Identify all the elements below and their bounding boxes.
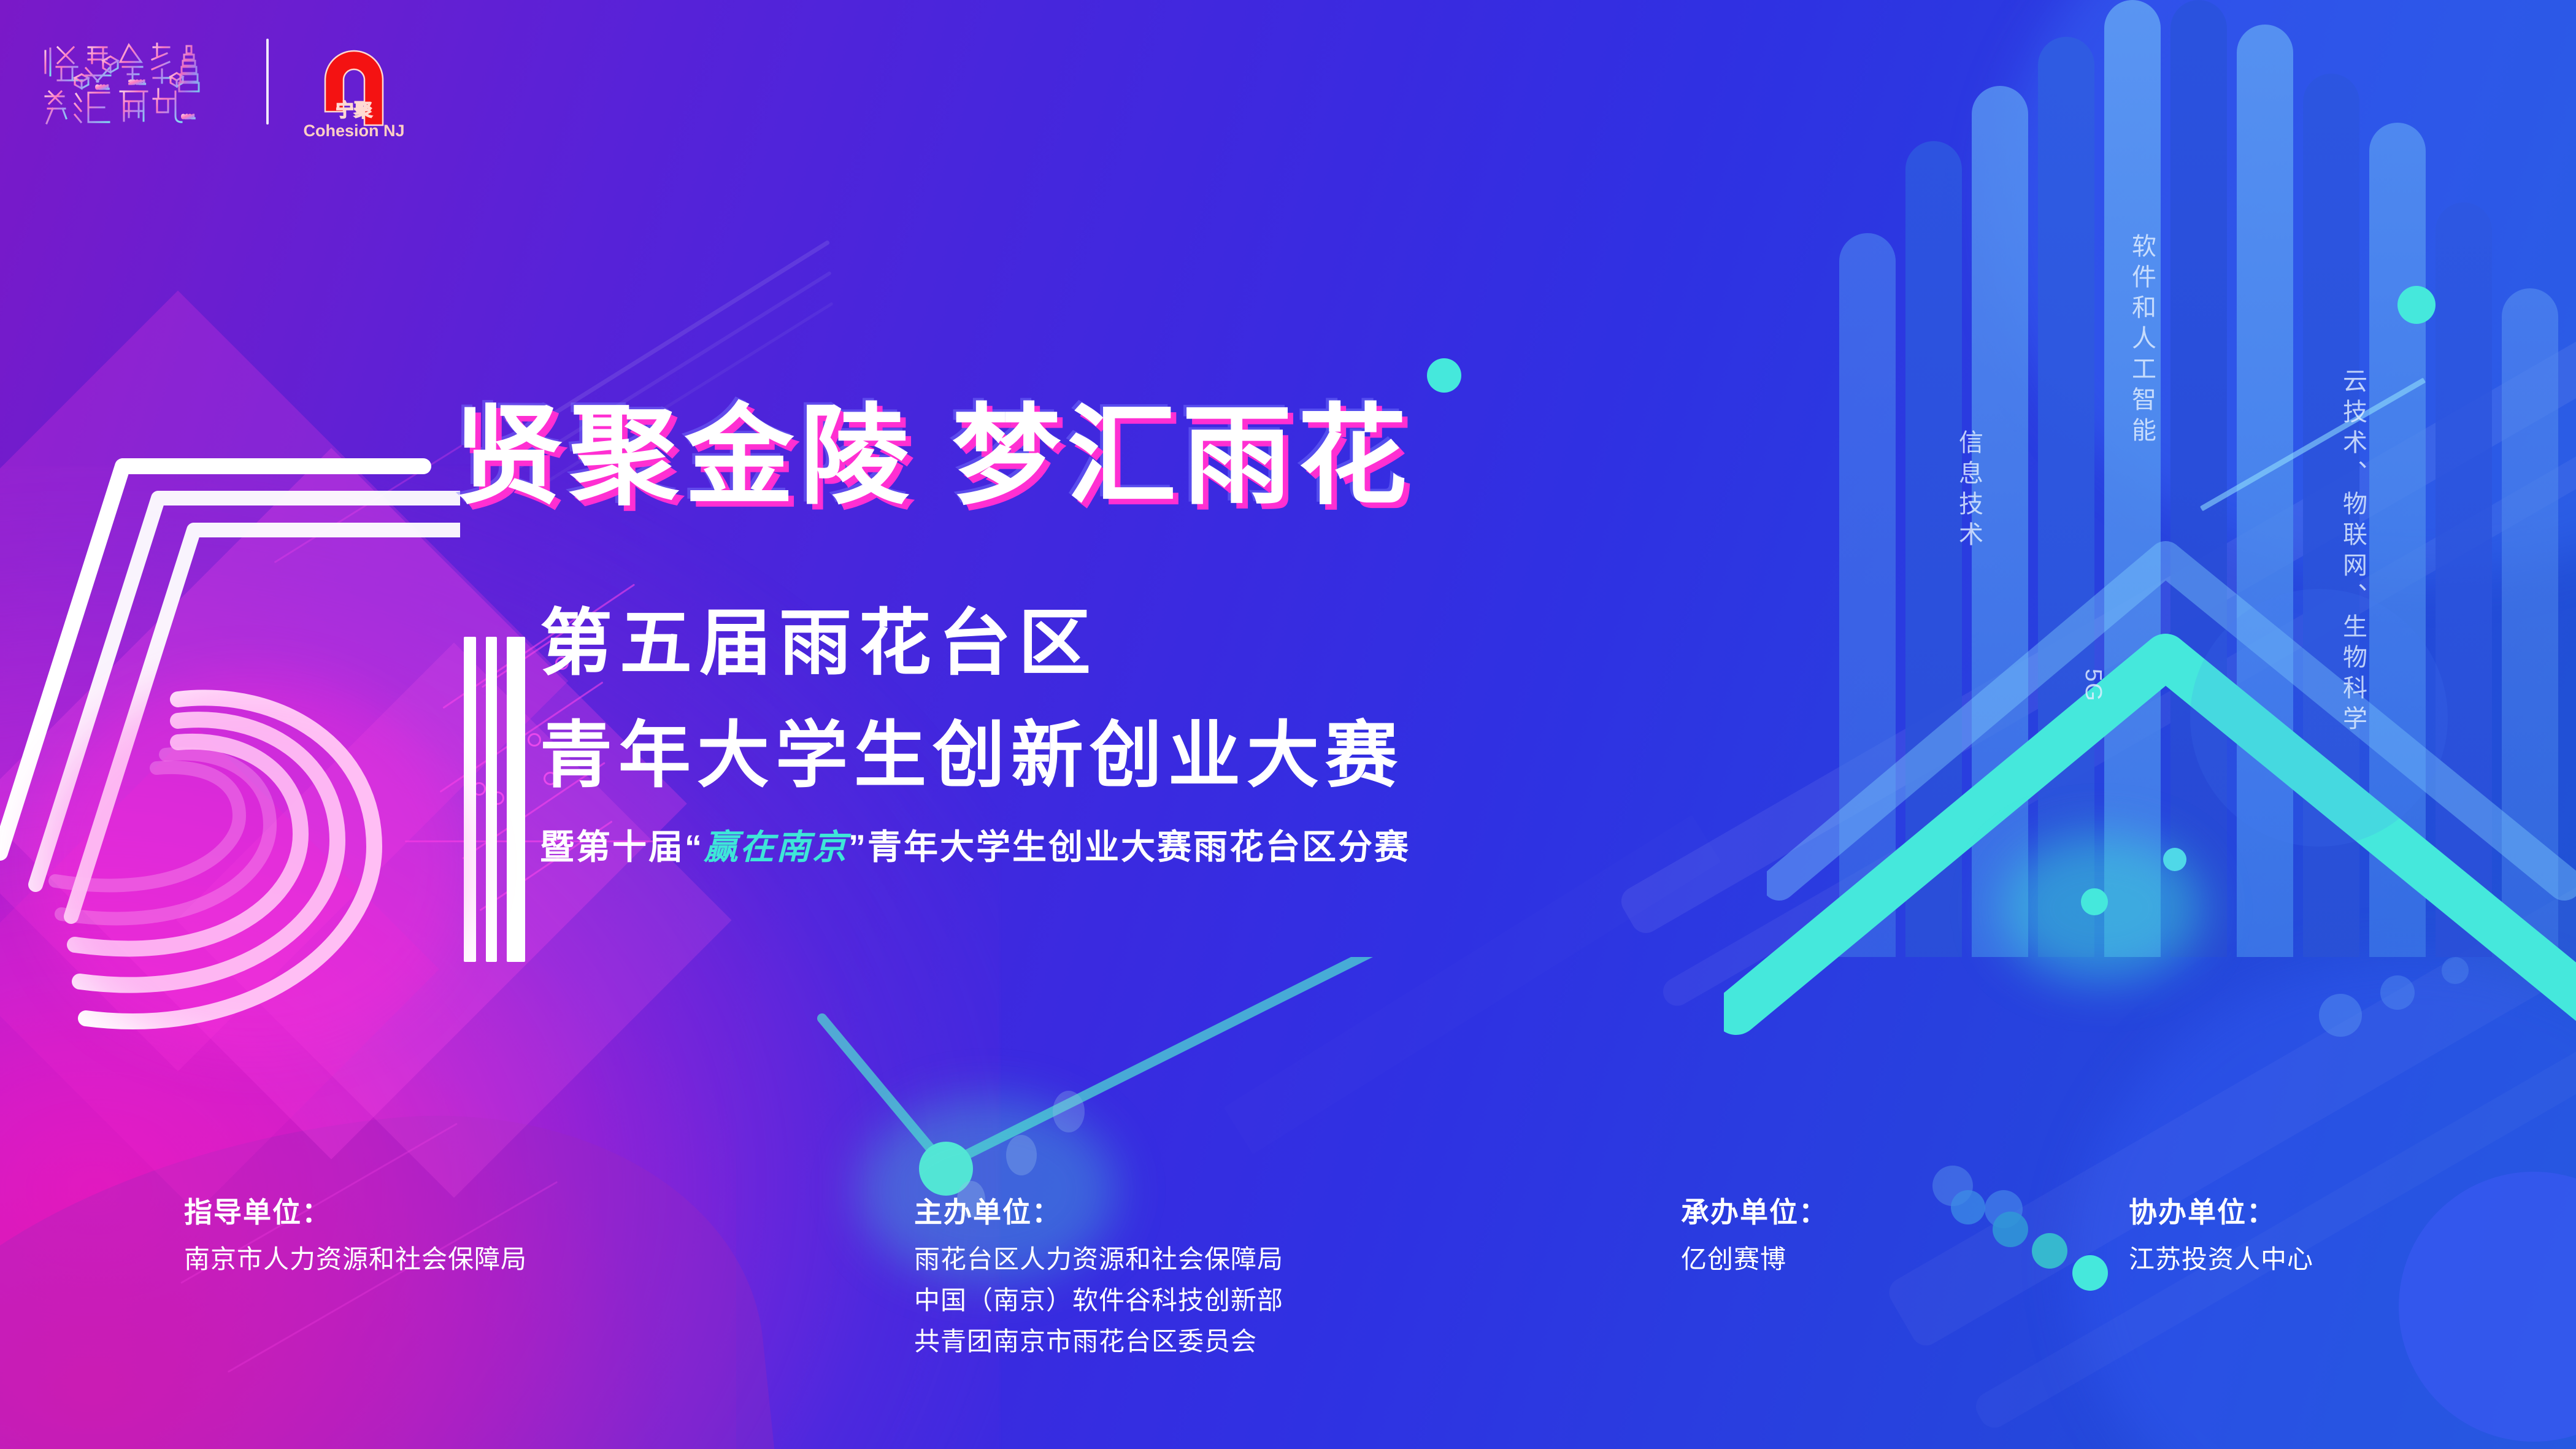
headline-block: 贤聚金陵 梦汇雨花 <box>454 399 1926 515</box>
organizer-line: 江苏投资人中心 <box>2129 1239 2313 1279</box>
event-logo-art: 0101 0101 10011 <box>37 33 239 131</box>
tech-bar-7 <box>2237 25 2293 957</box>
connector-line-topright <box>2200 378 2426 512</box>
accent-bar-1 <box>464 637 476 962</box>
circuit-node-2 <box>528 733 541 747</box>
tech-bar-11 <box>2502 288 2558 957</box>
dot-chain-3 <box>1053 1091 1085 1132</box>
cyan-dot-top <box>1427 358 1461 393</box>
tech-bar-9 <box>2369 123 2426 957</box>
theme-label-info-tech: 信息技术 <box>1951 429 1986 552</box>
subtitle-line-2: 青年大学生创新创业大赛 <box>540 713 1410 799</box>
cyan-glow-mid <box>2000 834 2202 982</box>
chevron-arrow-inner <box>1724 632 2576 1061</box>
circuit-line-7 <box>274 445 463 563</box>
diagonal-band-1 <box>1616 190 2576 938</box>
tech-bar-5 <box>2104 0 2161 957</box>
tech-bar-6 <box>2170 0 2227 957</box>
theme-label-software-ai: 软件和人工智能 <box>2124 233 2159 448</box>
bg-dot-c <box>2442 957 2469 984</box>
logo-en-text: Cohesion NJ <box>303 121 404 140</box>
subtitle-suffix: 青年大学生创业大赛雨花台区分赛 <box>867 828 1410 866</box>
logo-lockup: 0101 0101 10011 宁聚 Cohesion NJ <box>37 23 412 140</box>
bg-circle-mid <box>2190 589 2448 847</box>
subtitle-block: 第五届雨花台区 青年大学生创新创业大赛 暨第十届“赢在南京”青年大学生创业大赛雨… <box>540 601 1410 869</box>
organizer-title: 协办单位： <box>2129 1190 2313 1231</box>
svg-text:0101: 0101 <box>182 114 195 120</box>
subtitle-line-3: 暨第十届“赢在南京”青年大学生创业大赛雨花台区分赛 <box>540 820 1410 869</box>
organizer-title: 指导单位： <box>184 1190 527 1231</box>
edition-number-five-graphic <box>0 368 460 1031</box>
subtitle-prefix: 暨第十届 <box>540 828 685 866</box>
tech-bar-1 <box>1839 233 1896 957</box>
organizer-title: 主办单位： <box>914 1190 1283 1231</box>
page-title: 贤聚金陵 梦汇雨花 <box>454 399 1926 515</box>
magenta-glow-headline <box>37 675 466 1055</box>
organizer-block-coorganizer: 协办单位： 江苏投资人中心 <box>2129 1190 2313 1279</box>
organizer-block-organizer: 承办单位： 亿创赛博 <box>1681 1190 1828 1279</box>
subtitle-accent: 赢在南京 <box>704 829 848 867</box>
organizer-block-guidance: 指导单位： 南京市人力资源和社会保障局 <box>184 1190 527 1279</box>
logo-divider <box>266 39 269 125</box>
theme-label-5g: 5G <box>2080 669 2106 702</box>
diamond-shape-4 <box>0 726 439 1212</box>
organizer-block-host: 主办单位： 雨花台区人力资源和社会保障局 中国（南京）软件谷科技创新部 共青团南… <box>914 1190 1283 1361</box>
organizer-line: 共青团南京市雨花台区委员会 <box>914 1321 1283 1361</box>
diagonal-band-2 <box>1658 281 2576 1011</box>
circuit-node-5 <box>491 791 504 805</box>
poster-canvas: 0101 0101 10011 宁聚 Cohesion NJ 贤聚金陵 梦汇雨花… <box>0 0 2576 1449</box>
tech-bar-10 <box>2436 202 2492 957</box>
organizer-line: 雨花台区人力资源和社会保障局 <box>914 1239 1283 1279</box>
accent-bar-2 <box>486 637 497 962</box>
accent-bar-3 <box>507 637 525 962</box>
theme-label-cloud-iot-bio: 云技术、物联网、生物科学 <box>2335 368 2370 736</box>
bg-dot-a <box>2319 994 2362 1037</box>
svg-text:0101: 0101 <box>96 85 109 91</box>
logo-cn-text: 宁聚 <box>336 100 373 121</box>
circuit-node-4 <box>472 782 486 796</box>
organizer-line: 中国（南京）软件谷科技创新部 <box>914 1280 1283 1320</box>
blue-glow-right <box>1994 0 2576 577</box>
organizer-line: 南京市人力资源和社会保障局 <box>184 1239 527 1279</box>
organizer-row: 指导单位： 南京市人力资源和社会保障局 主办单位： 雨花台区人力资源和社会保障局… <box>0 1190 2576 1448</box>
quote-open: “ <box>685 828 704 866</box>
chevron-arrow-outer <box>1767 540 2576 932</box>
bg-dot-b <box>2380 975 2415 1010</box>
subtitle-line-1: 第五届雨花台区 <box>540 601 1410 686</box>
tech-bar-4 <box>2038 37 2094 957</box>
cohesion-nj-logo: 宁聚 Cohesion NJ <box>296 23 412 140</box>
quote-close: ” <box>848 828 867 866</box>
cyan-dot-bar-top <box>2397 286 2436 324</box>
tech-bars-graphic <box>1828 0 2576 957</box>
blue-node-upper-right <box>2163 848 2186 871</box>
cyan-node-center <box>2081 888 2108 915</box>
organizer-line: 亿创赛博 <box>1681 1239 1828 1279</box>
svg-text:10011: 10011 <box>129 80 145 86</box>
dot-chain-2 <box>1006 1135 1037 1175</box>
organizer-title: 承办单位： <box>1681 1190 1828 1231</box>
